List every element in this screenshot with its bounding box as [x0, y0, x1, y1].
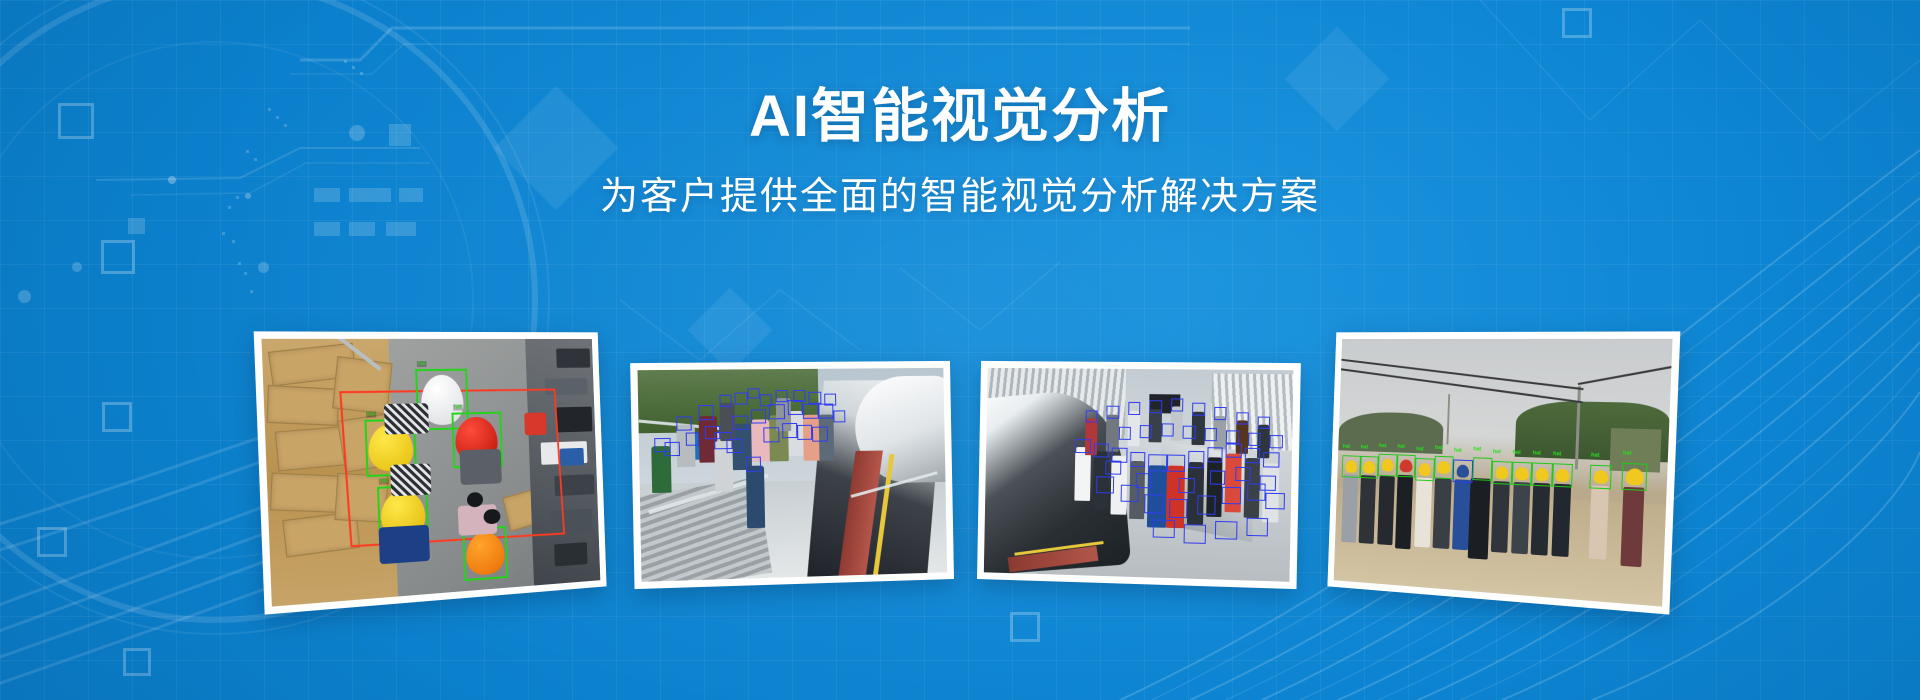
hat-detection-box	[1378, 454, 1397, 477]
hat-detection-label: hat	[1623, 450, 1632, 457]
face-detection-box	[735, 392, 748, 405]
hat-detection-box	[1360, 456, 1379, 479]
outlined-square-icon	[101, 240, 135, 274]
head-detection-box	[1107, 406, 1119, 419]
hat-detection-box	[1590, 465, 1612, 490]
head-detection-box	[1226, 431, 1239, 444]
hat-detection-label: hat	[1361, 445, 1368, 451]
gallery-photo-platform-face-detection[interactable]	[630, 361, 954, 589]
photo-frame	[984, 368, 1294, 582]
hill	[1338, 411, 1444, 453]
shelf-item	[555, 407, 592, 432]
person-body	[1491, 481, 1510, 553]
photo-gallery: hat hat hat hat	[0, 300, 1920, 620]
person-body	[1414, 478, 1432, 548]
hat-detection-box	[1622, 463, 1648, 491]
scene-station-dense-crowd	[984, 368, 1294, 582]
hat-detection-box	[1453, 459, 1473, 482]
pedestrian	[1187, 461, 1204, 524]
face-detection-box	[812, 427, 827, 442]
hat-detection-box	[1552, 463, 1573, 487]
head-detection-box	[1161, 423, 1174, 436]
head-detection-box	[1245, 448, 1261, 463]
head-detection-box	[1076, 439, 1091, 454]
head-detection-box	[1204, 428, 1217, 441]
hat-detection-box	[1532, 462, 1553, 486]
filled-rectangle-icon	[349, 222, 375, 236]
face-detection-box	[809, 392, 821, 405]
head-detection-box	[1197, 495, 1216, 514]
head-detection-box	[1171, 398, 1184, 411]
filled-rectangle-icon	[386, 222, 416, 236]
head-detection-box	[1128, 402, 1140, 415]
shelf-item	[554, 542, 588, 566]
head-detection-box	[1210, 470, 1226, 485]
ai-vision-banner: AI智能视觉分析 为客户提供全面的智能视觉分析解决方案	[0, 0, 1920, 700]
face-detection-box	[833, 410, 845, 423]
person-body	[1359, 475, 1377, 544]
head-detection-box	[1215, 521, 1237, 540]
hat-detection-box	[1415, 458, 1435, 481]
face-detection-box	[763, 427, 779, 442]
head-detection-box	[1260, 475, 1276, 490]
head-detection-box	[1183, 426, 1196, 439]
face-detection-box	[803, 404, 818, 419]
head-detection-box	[1184, 524, 1206, 543]
face-detection-box	[705, 426, 721, 439]
person-body	[1620, 487, 1645, 568]
face-detection-box	[787, 400, 803, 415]
hat-detection-box	[1434, 456, 1454, 479]
detection-label: hat	[366, 411, 377, 417]
hat-detection-box	[1492, 461, 1513, 485]
person-body	[1468, 478, 1490, 560]
head-detection-box	[1266, 492, 1285, 509]
face-detection-box	[751, 409, 767, 424]
person-body	[1341, 474, 1358, 543]
photo-frame: hat hat hat hat	[261, 339, 600, 607]
head-detection-box	[1246, 517, 1268, 537]
page-title: AI智能视觉分析	[0, 86, 1920, 149]
face-detection-box	[760, 394, 773, 407]
gallery-photo-warehouse-helmet-detection[interactable]: hat hat hat hat	[254, 331, 607, 614]
person-body	[1377, 476, 1395, 545]
face-detection-box	[818, 404, 833, 419]
shelf-item	[556, 349, 590, 369]
hat-detection-label: hat	[1513, 450, 1521, 456]
scene-outdoor-construction-site: hat hat hat hat hat hat hat hat	[1334, 339, 1673, 607]
head-detection-box	[1188, 451, 1204, 468]
face-detection-box	[727, 438, 743, 453]
face-detection-box	[746, 457, 762, 472]
head-detection-box	[1270, 435, 1283, 448]
headline-block: AI智能视觉分析 为客户提供全面的智能视觉分析解决方案	[0, 86, 1920, 220]
filled-square-icon	[128, 218, 145, 234]
person-body	[1395, 474, 1413, 549]
head-detection-box	[1148, 454, 1167, 471]
pedestrian	[746, 465, 766, 528]
hat-detection-label: hat	[1533, 451, 1541, 457]
outlined-square-icon	[1562, 8, 1592, 38]
face-detection-box	[747, 388, 760, 399]
head-detection-box	[1153, 519, 1175, 538]
cardboard-box	[267, 385, 340, 426]
page-subtitle: 为客户提供全面的智能视觉分析解决方案	[0, 175, 1920, 221]
face-detection-box	[775, 390, 787, 403]
antenna-tower	[1446, 394, 1450, 444]
head-detection-box	[1140, 425, 1152, 438]
face-detection-box	[793, 390, 805, 403]
blue-crate	[560, 448, 585, 466]
head-detection-box	[1118, 427, 1130, 440]
power-wire	[1578, 365, 1673, 385]
hat-detection-box	[1396, 455, 1415, 478]
head-detection-box	[1094, 443, 1109, 458]
hat-detection-label: hat	[1493, 449, 1501, 455]
head-detection-box	[1226, 443, 1242, 458]
worker-body	[379, 525, 431, 564]
face-detection-box	[698, 405, 714, 420]
face-detection-box	[732, 415, 748, 430]
hat-detection-box	[1511, 462, 1532, 486]
head-detection-box	[1236, 412, 1249, 425]
detection-label: hat	[417, 361, 427, 367]
gallery-photo-dense-crowd-detection[interactable]	[977, 361, 1301, 589]
head-detection-box	[1248, 433, 1261, 446]
circle-dot-icon	[72, 262, 82, 272]
face-detection-box	[720, 395, 733, 408]
face-detection-box	[664, 442, 680, 457]
photo-frame: hat hat hat hat hat hat hat hat	[1334, 339, 1673, 607]
hat-detection-label: hat	[1454, 448, 1462, 454]
circle-dot-icon	[258, 262, 269, 273]
hat-detection-label: hat	[1473, 446, 1481, 452]
scene-station-platform	[637, 368, 947, 582]
head-detection-box	[1136, 473, 1152, 488]
head-detection-box	[1222, 487, 1241, 504]
head-detection-box	[1207, 447, 1223, 462]
hat-detection-box	[1342, 455, 1361, 478]
worker-body	[384, 403, 429, 435]
worker-body	[459, 449, 502, 486]
face-detection-box	[797, 425, 813, 440]
detection-label: hat	[453, 404, 463, 410]
person-body	[1531, 483, 1551, 556]
hat-detection-box	[1472, 458, 1492, 482]
person-body	[1433, 479, 1451, 550]
hat-detection-label: hat	[1435, 445, 1443, 451]
hat-detection-label: hat	[1343, 444, 1350, 450]
photo-frame	[637, 368, 947, 582]
head-detection-box	[1085, 410, 1097, 423]
outlined-square-icon	[123, 648, 151, 676]
head-detection-box	[1144, 494, 1163, 513]
head-detection-box	[1096, 476, 1115, 493]
head-detection-box	[1235, 466, 1251, 481]
head-detection-box	[1169, 499, 1188, 518]
filled-rectangle-icon	[314, 222, 340, 236]
head-detection-box	[1167, 455, 1186, 472]
head-detection-box	[1192, 403, 1205, 416]
scene-warehouse-overhead: hat hat hat hat	[261, 339, 600, 607]
head-detection-box	[1179, 478, 1195, 493]
detection-label: hat	[379, 478, 390, 485]
person-body	[1551, 484, 1571, 557]
face-detection-box	[686, 433, 699, 446]
head-detection-box	[1149, 400, 1162, 413]
face-detection-box	[782, 423, 798, 438]
hat-detection-label: hat	[1553, 452, 1561, 458]
worker-body	[390, 464, 431, 496]
head-detection-box	[1263, 452, 1279, 467]
hat-detection-label: hat	[1397, 444, 1405, 450]
hat-detection-label: hat	[1416, 447, 1424, 453]
head-detection-box	[1214, 407, 1227, 420]
head-detection-box	[1130, 452, 1146, 467]
face-detection-box	[824, 394, 836, 407]
person-body	[1511, 482, 1530, 555]
head-detection-box	[1120, 485, 1139, 502]
face-detection-box	[676, 416, 692, 431]
gallery-photo-outdoor-hat-detection[interactable]: hat hat hat hat hat hat hat hat	[1327, 331, 1680, 614]
head-detection-box	[1105, 460, 1120, 475]
person-body	[1589, 486, 1609, 560]
head-detection-box	[1258, 416, 1271, 429]
hat-detection-label: hat	[1591, 453, 1600, 459]
hat-detection-label: hat	[1379, 443, 1387, 449]
